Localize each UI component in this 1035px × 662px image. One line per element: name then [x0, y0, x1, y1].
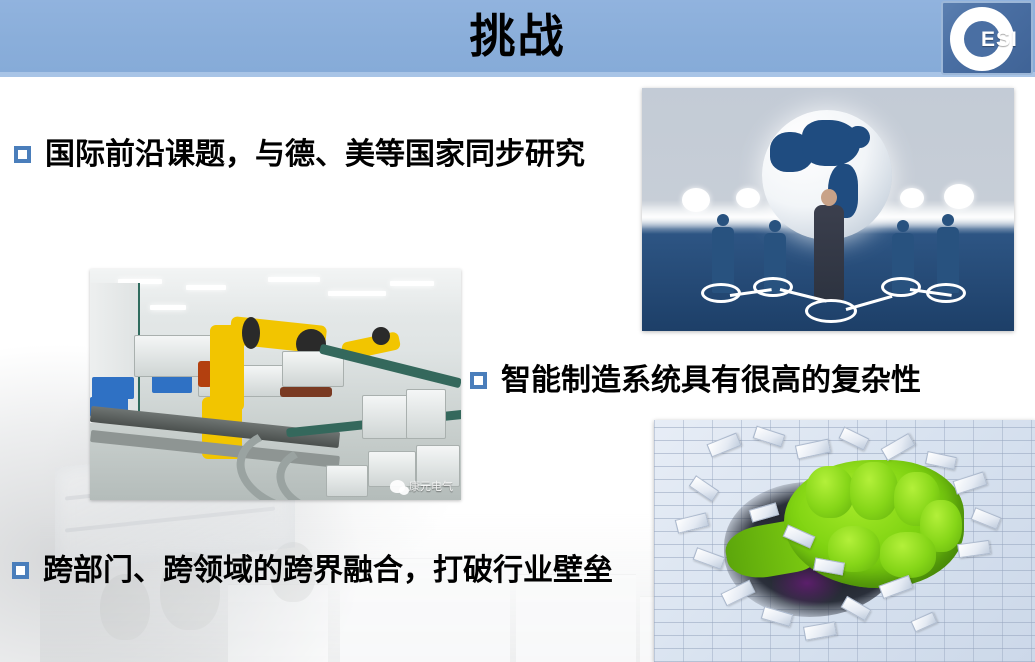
network-node: [753, 277, 793, 297]
bullet-item-1: 国际前沿课题，与德、美等国家同步研究: [14, 138, 585, 171]
speech-bubble-icon: [944, 184, 974, 209]
ceiling-light: [150, 305, 186, 310]
bullet-text-1: 国际前沿课题，与德、美等国家同步研究: [45, 138, 585, 171]
robot-joint: [372, 327, 390, 345]
ceiling: [90, 269, 461, 315]
page-title: 挑战: [0, 0, 1035, 72]
esi-logo: ESI: [941, 1, 1033, 75]
green-fist: [784, 460, 964, 588]
station-module: [326, 465, 368, 497]
ceiling-light: [186, 285, 226, 290]
watermark-text: 康元电气: [409, 478, 453, 494]
network-link: [846, 295, 893, 311]
speech-bubble-icon: [736, 188, 760, 208]
fist-breaking-wall-image: [654, 420, 1035, 662]
bullet-square-icon: [14, 146, 31, 163]
network-node: [881, 277, 921, 297]
center-person-figure: [814, 205, 844, 301]
bullet-square-icon: [12, 562, 29, 579]
ceiling-light: [328, 291, 386, 296]
speech-bubble-icon: [682, 188, 710, 212]
image-watermark: 康元电气: [390, 478, 453, 494]
bullet-text-3: 跨部门、跨领域的跨界融合，打破行业壁垒: [43, 554, 613, 587]
bullet-item-3: 跨部门、跨领域的跨界融合，打破行业壁垒: [12, 554, 613, 587]
wechat-icon: [390, 480, 405, 493]
slide-canvas: 挑战 ESI: [0, 0, 1035, 662]
network-node-center: [805, 299, 857, 323]
ceiling-light: [390, 281, 434, 286]
logo-text: ESI: [981, 29, 1018, 50]
bullet-item-2: 智能制造系统具有很高的复杂性: [470, 364, 921, 397]
ceiling-light: [268, 277, 320, 282]
title-banner-underline: [0, 72, 1035, 77]
globe-network-image: [642, 88, 1014, 331]
smart-factory-image: 康元电气: [90, 269, 461, 500]
tray: [280, 387, 332, 397]
bullet-square-icon: [470, 372, 487, 389]
robot-joint: [242, 317, 260, 349]
parts-bin: [92, 377, 134, 399]
station-module: [406, 389, 446, 439]
bullet-text-2: 智能制造系统具有很高的复杂性: [501, 364, 921, 397]
speech-bubble-icon: [900, 188, 924, 208]
station-module: [362, 395, 408, 439]
